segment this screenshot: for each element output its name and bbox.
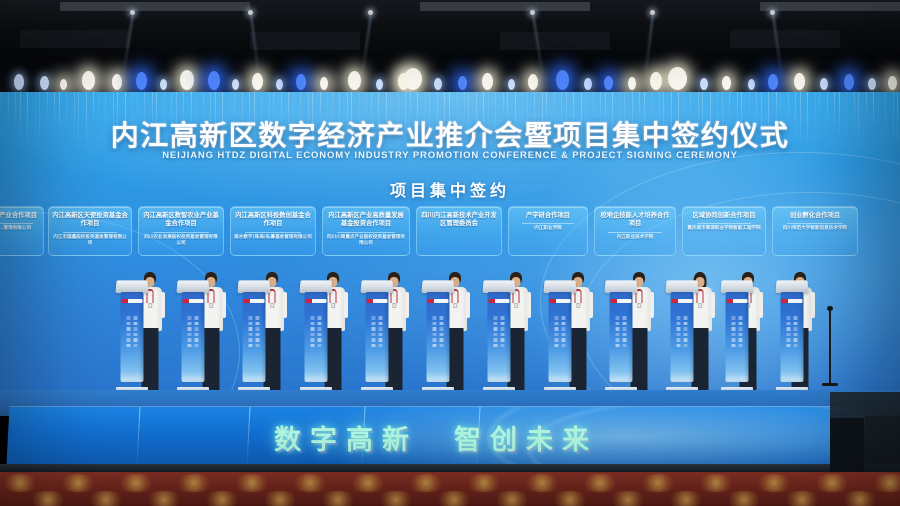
podium-body bbox=[487, 292, 510, 382]
podium-text-glyph bbox=[787, 327, 791, 331]
podium-text-glyph bbox=[794, 327, 798, 331]
signing-podium bbox=[422, 280, 454, 388]
carpet-motif bbox=[174, 474, 214, 492]
placard-title: 内江高新区数智农业产业基金合作项目 bbox=[142, 212, 220, 229]
signing-podium bbox=[483, 280, 515, 388]
podium-text-glyph bbox=[195, 338, 199, 342]
ceiling-panel bbox=[250, 32, 360, 50]
signing-podium bbox=[177, 280, 209, 388]
podium-text-glyph bbox=[127, 333, 131, 337]
podium-text-glyph bbox=[794, 322, 798, 326]
podium-text-glyph bbox=[494, 333, 498, 337]
podium-logo-band bbox=[306, 299, 326, 303]
signatory-arm-right bbox=[161, 292, 165, 318]
podium-text-glyph bbox=[739, 333, 743, 337]
podium-vertical-text bbox=[780, 316, 803, 347]
signatory-badge bbox=[209, 303, 213, 308]
carpet-motif bbox=[318, 491, 358, 506]
stage-lamp bbox=[14, 74, 24, 90]
podium-text-glyph bbox=[311, 316, 315, 320]
podium-vertical-text bbox=[487, 316, 510, 347]
podium-text-glyph bbox=[311, 322, 315, 326]
podium-text-glyph bbox=[794, 333, 798, 337]
stage-lamp bbox=[508, 79, 515, 90]
stage-lamp bbox=[888, 76, 897, 90]
podium-text-glyph bbox=[616, 344, 620, 348]
podium-text-column bbox=[616, 316, 620, 347]
placard-divider bbox=[608, 232, 661, 233]
podium-text-glyph bbox=[616, 316, 620, 320]
stage-lamp bbox=[650, 72, 662, 90]
carpet-motif bbox=[840, 491, 880, 506]
podium-text-glyph bbox=[623, 333, 627, 337]
podium-text-column bbox=[318, 316, 322, 347]
podium-text-glyph bbox=[794, 338, 798, 342]
podium-text-glyph bbox=[311, 333, 315, 337]
podium-vertical-text bbox=[304, 316, 327, 347]
podium-body bbox=[725, 292, 748, 382]
podium-text-glyph bbox=[249, 333, 253, 337]
podium-text-glyph bbox=[494, 327, 498, 331]
stage-lamp-blue bbox=[768, 74, 778, 90]
podium-text-column bbox=[684, 316, 688, 347]
carpet-motif bbox=[812, 474, 852, 492]
podium-text-glyph bbox=[562, 322, 566, 326]
carpet-motif bbox=[492, 491, 532, 506]
placard-subtitle: 南水数字(珠海)私募基金管理有限公司 bbox=[234, 235, 312, 241]
podium-text-glyph bbox=[433, 344, 437, 348]
stage-lamp bbox=[434, 78, 442, 90]
carpet-motif bbox=[782, 491, 822, 506]
carpet-motif bbox=[116, 474, 156, 492]
podium-text-glyph bbox=[739, 316, 743, 320]
stage-scene: 内江高新区数字经济产业推介会暨项目集中签约仪式 NEIJIANG HTDZ DI… bbox=[0, 0, 900, 506]
podium-text-glyph bbox=[318, 333, 322, 337]
carpet-motif bbox=[260, 491, 300, 506]
podium-text-column bbox=[256, 316, 260, 347]
stage-lamp bbox=[252, 73, 263, 90]
signatory-badge bbox=[698, 303, 702, 308]
podium-text-glyph bbox=[732, 338, 736, 342]
project-placard: 内江高新区产业高质量发展基金投资合作项目四川川商重点产业股权投资基金管理有限公司 bbox=[322, 206, 410, 256]
podium-vertical-text bbox=[181, 316, 204, 347]
podium-text-glyph bbox=[134, 327, 138, 331]
podium-text-glyph bbox=[318, 338, 322, 342]
carpet-motif bbox=[28, 491, 68, 506]
podium-text-glyph bbox=[433, 316, 437, 320]
ceiling-panel bbox=[500, 32, 610, 50]
podium-text-glyph bbox=[684, 316, 688, 320]
podium-logo-band bbox=[428, 299, 448, 303]
podium-text-glyph bbox=[501, 316, 505, 320]
project-placard: 产学研合作项目内江职业学院 bbox=[508, 206, 588, 256]
podium-text-glyph bbox=[787, 344, 791, 348]
podium-text-glyph bbox=[372, 338, 376, 342]
carpet-motif bbox=[464, 474, 504, 492]
podium-text-column bbox=[195, 316, 199, 347]
podium-logo-band bbox=[782, 299, 802, 303]
stage-lamp-blue bbox=[844, 74, 854, 90]
podium-text-glyph bbox=[188, 333, 192, 337]
placard-subtitle: 四川农业发展股权投资基金管理有限公司 bbox=[142, 235, 220, 247]
carpet-motif bbox=[144, 491, 184, 506]
placard-subtitle: 重庆城市管理职业学院智能工程学院 bbox=[686, 226, 762, 232]
podium-text-glyph bbox=[134, 338, 138, 342]
podium-text-glyph bbox=[188, 338, 192, 342]
stage-lamp bbox=[722, 76, 731, 90]
mic-pole bbox=[829, 310, 831, 383]
placard-subtitle: 四川师范大学智能信息技术学院 bbox=[776, 226, 854, 232]
ceiling-truss-left bbox=[60, 2, 250, 11]
placard-subtitle: 内江职业学院 bbox=[512, 226, 584, 232]
podium-text-glyph bbox=[256, 333, 260, 337]
podium-text-column bbox=[134, 316, 138, 347]
signatory-badge bbox=[270, 303, 274, 308]
podium-logo-band bbox=[244, 299, 264, 303]
podium-text-glyph bbox=[677, 322, 681, 326]
placard-divider bbox=[63, 232, 118, 233]
stage-lamp-blue bbox=[604, 76, 613, 90]
podium-text-column bbox=[188, 316, 192, 347]
podium-logo-band bbox=[122, 299, 142, 303]
podium-text-glyph bbox=[562, 327, 566, 331]
stage-lamp bbox=[232, 79, 239, 90]
signatory-badge bbox=[148, 303, 152, 308]
placard-divider bbox=[153, 232, 209, 233]
podium-text-glyph bbox=[562, 316, 566, 320]
podium-text-glyph bbox=[440, 322, 444, 326]
podium-text-glyph bbox=[195, 316, 199, 320]
carpet-motif bbox=[638, 474, 678, 492]
ceiling-truss-right bbox=[760, 2, 900, 11]
podium-text-glyph bbox=[433, 338, 437, 342]
podium-text-glyph bbox=[188, 322, 192, 326]
stage-lamp bbox=[528, 74, 538, 90]
podium-text-column bbox=[440, 316, 444, 347]
podium-text-glyph bbox=[127, 327, 131, 331]
signatory-arm-right bbox=[759, 292, 763, 318]
project-placard: 区域协同创新合作项目重庆城市管理职业学院智能工程学院 bbox=[682, 206, 766, 256]
podium-text-glyph bbox=[739, 344, 743, 348]
signing-podium bbox=[361, 280, 393, 388]
podium-text-glyph bbox=[311, 338, 315, 342]
placard-title: 创业孵化合作项目 bbox=[776, 212, 854, 220]
stage-lamp bbox=[376, 79, 383, 90]
placard-divider bbox=[245, 232, 301, 233]
podium-text-glyph bbox=[623, 327, 627, 331]
podium-logo-band bbox=[489, 299, 509, 303]
placard-divider bbox=[337, 232, 395, 233]
podium-text-glyph bbox=[249, 338, 253, 342]
podium-text-glyph bbox=[433, 322, 437, 326]
stage-lamp bbox=[276, 79, 283, 90]
podium-body bbox=[304, 292, 327, 382]
podium-text-column bbox=[433, 316, 437, 347]
podium-text-glyph bbox=[623, 316, 627, 320]
podium-text-column bbox=[379, 316, 383, 347]
placard-divider bbox=[787, 223, 843, 224]
podium-text-glyph bbox=[494, 344, 498, 348]
podium-text-glyph bbox=[732, 327, 736, 331]
podium-text-glyph bbox=[440, 344, 444, 348]
podium-logo-band bbox=[727, 299, 747, 303]
podium-text-glyph bbox=[127, 322, 131, 326]
podium-vertical-text bbox=[725, 316, 748, 347]
placard-title: 四川内江高新技术产业开发区管理委员会 bbox=[420, 212, 498, 229]
podium-text-glyph bbox=[134, 322, 138, 326]
placard-title: …产业合作项目 bbox=[0, 212, 40, 220]
podium-text-glyph bbox=[195, 344, 199, 348]
podium-text-glyph bbox=[311, 327, 315, 331]
stage-right-box bbox=[830, 418, 864, 476]
signatory-arm-right bbox=[283, 292, 287, 318]
signing-podium bbox=[776, 280, 808, 388]
placard-title: 内江高新区产业高质量发展基金投资合作项目 bbox=[326, 212, 406, 229]
podium-text-glyph bbox=[677, 333, 681, 337]
carpet-motif bbox=[434, 491, 474, 506]
signatory-badge bbox=[576, 303, 580, 308]
project-placard-row: …产业合作项目…管理有限公司内江高新区天使投资基金合作项目内江市国鑫股权投资基金… bbox=[0, 206, 900, 258]
podium-text-glyph bbox=[134, 316, 138, 320]
signing-podium bbox=[666, 280, 698, 388]
carpet-motif bbox=[376, 491, 416, 506]
podium-body bbox=[548, 292, 571, 382]
podium-text-glyph bbox=[623, 322, 627, 326]
podium-text-glyph bbox=[188, 327, 192, 331]
placard-title: 区域协同创新合作项目 bbox=[686, 212, 762, 220]
podium-text-glyph bbox=[256, 327, 260, 331]
podium-text-glyph bbox=[188, 344, 192, 348]
stage-lamp-blue bbox=[296, 74, 306, 90]
podium-text-glyph bbox=[684, 322, 688, 326]
stage-lamp-blue bbox=[136, 72, 147, 90]
podium-text-glyph bbox=[249, 322, 253, 326]
podium-text-glyph bbox=[440, 338, 444, 342]
carpet-motif bbox=[666, 491, 706, 506]
podium-text-glyph bbox=[379, 316, 383, 320]
podium-text-glyph bbox=[127, 316, 131, 320]
podium-text-column bbox=[562, 316, 566, 347]
podium-body bbox=[670, 292, 693, 382]
podium-text-glyph bbox=[739, 322, 743, 326]
podium-text-glyph bbox=[555, 344, 559, 348]
podium-vertical-text bbox=[242, 316, 265, 347]
podium-text-glyph bbox=[732, 344, 736, 348]
stage-lamp bbox=[482, 73, 493, 90]
carpet-motif bbox=[696, 474, 736, 492]
podium-text-column bbox=[311, 316, 315, 347]
podium-text-glyph bbox=[440, 327, 444, 331]
placard-subtitle: …管理有限公司 bbox=[0, 226, 40, 232]
podium-vertical-text bbox=[548, 316, 571, 347]
podium-text-glyph bbox=[195, 333, 199, 337]
podium-text-glyph bbox=[256, 344, 260, 348]
podium-logo-band bbox=[550, 299, 570, 303]
podium-text-glyph bbox=[555, 338, 559, 342]
stage-lamp-blue bbox=[458, 76, 467, 90]
podium-text-glyph bbox=[616, 338, 620, 342]
podium-text-glyph bbox=[372, 316, 376, 320]
podium-text-glyph bbox=[684, 344, 688, 348]
carpet-motif bbox=[550, 491, 590, 506]
stage-lamp-bright bbox=[404, 68, 422, 90]
stage-lamp bbox=[628, 77, 636, 90]
podium-text-glyph bbox=[256, 338, 260, 342]
microphone-stand bbox=[820, 304, 840, 386]
podium-vertical-text bbox=[670, 316, 693, 347]
podium-body bbox=[242, 292, 265, 382]
podium-text-glyph bbox=[787, 338, 791, 342]
podium-text-glyph bbox=[188, 316, 192, 320]
podium-text-glyph bbox=[195, 327, 199, 331]
podium-text-glyph bbox=[249, 316, 253, 320]
podium-text-glyph bbox=[616, 327, 620, 331]
podium-text-glyph bbox=[372, 344, 376, 348]
stage-lamp-bright bbox=[668, 67, 687, 90]
podium-text-glyph bbox=[623, 344, 627, 348]
carpet-motif bbox=[202, 491, 242, 506]
carpet-motif bbox=[348, 474, 388, 492]
podium-text-column bbox=[794, 316, 798, 347]
podium-logo-band bbox=[183, 299, 203, 303]
carpet-motif bbox=[406, 474, 446, 492]
stage-lamp bbox=[82, 71, 95, 90]
podium-text-glyph bbox=[732, 333, 736, 337]
project-placard: 内江高新区科投数创基金合作项目南水数字(珠海)私募基金管理有限公司 bbox=[230, 206, 316, 256]
podium-text-column bbox=[732, 316, 736, 347]
podium-text-glyph bbox=[372, 333, 376, 337]
podium-text-glyph bbox=[684, 338, 688, 342]
page-subtitle: 项目集中签约 bbox=[0, 177, 900, 201]
stage-lamp bbox=[868, 78, 876, 90]
signatory-arm-right bbox=[589, 292, 593, 318]
podium-text-glyph bbox=[555, 316, 559, 320]
stage-lamp bbox=[320, 77, 328, 90]
podium-text-glyph bbox=[379, 338, 383, 342]
podium-text-glyph bbox=[318, 322, 322, 326]
podium-text-column bbox=[494, 316, 498, 347]
project-placard: …产业合作项目…管理有限公司 bbox=[0, 206, 44, 256]
podium-text-column bbox=[249, 316, 253, 347]
podium-text-glyph bbox=[379, 327, 383, 331]
podium-text-glyph bbox=[372, 327, 376, 331]
page-title-english: NEIJIANG HTDZ DIGITAL ECONOMY INDUSTRY P… bbox=[0, 150, 900, 161]
podium-body bbox=[365, 292, 388, 382]
podium-text-glyph bbox=[256, 316, 260, 320]
podium-text-glyph bbox=[127, 344, 131, 348]
placard-divider bbox=[522, 223, 574, 224]
podium-text-glyph bbox=[555, 327, 559, 331]
carpet-motif bbox=[522, 474, 562, 492]
carpet-motif bbox=[870, 474, 900, 492]
signatory-arm-right bbox=[344, 292, 348, 318]
led-floor-strip: 数字高新 智创未来 bbox=[6, 406, 865, 466]
mic-foot bbox=[822, 383, 838, 386]
placard-title: 内江高新区科投数创基金合作项目 bbox=[234, 212, 312, 229]
stage-lamp bbox=[748, 79, 755, 90]
podium-text-glyph bbox=[440, 333, 444, 337]
signatory-arm-right bbox=[650, 292, 654, 318]
carpet bbox=[0, 472, 900, 506]
podium-logo-band bbox=[611, 299, 631, 303]
podium-logo-band bbox=[367, 299, 387, 303]
carpet-motif bbox=[232, 474, 272, 492]
project-placard: 创业孵化合作项目四川师范大学智能信息技术学院 bbox=[772, 206, 858, 256]
podium-body bbox=[181, 292, 204, 382]
podium-text-column bbox=[501, 316, 505, 347]
stage-lamp bbox=[60, 79, 67, 90]
carpet-motif bbox=[58, 474, 98, 492]
placard-subtitle: 内江市国鑫股权投资基金管理有限公司 bbox=[52, 235, 128, 247]
stage-lamp bbox=[584, 78, 592, 90]
carpet-motif bbox=[754, 474, 794, 492]
signing-podium bbox=[116, 280, 148, 388]
signatory-arm-right bbox=[405, 292, 409, 318]
podium-text-column bbox=[677, 316, 681, 347]
project-placard: 四川内江高新技术产业开发区管理委员会 bbox=[416, 206, 502, 256]
podium-text-glyph bbox=[372, 322, 376, 326]
podium-text-glyph bbox=[249, 344, 253, 348]
podium-text-glyph bbox=[555, 333, 559, 337]
project-placard: 内江高新区天使投资基金合作项目内江市国鑫股权投资基金管理有限公司 bbox=[48, 206, 132, 256]
stage-lamp bbox=[180, 70, 194, 90]
stage-lamp bbox=[40, 76, 49, 90]
podium-vertical-text bbox=[426, 316, 449, 347]
podium-body bbox=[120, 292, 143, 382]
podium-text-glyph bbox=[501, 338, 505, 342]
signatory-badge bbox=[637, 303, 641, 308]
podium-text-glyph bbox=[440, 316, 444, 320]
stage-lamp bbox=[112, 74, 122, 90]
signing-podium bbox=[238, 280, 270, 388]
podium-text-glyph bbox=[555, 322, 559, 326]
carpet-motif bbox=[86, 491, 126, 506]
podium-text-glyph bbox=[562, 344, 566, 348]
podium-vertical-text bbox=[609, 316, 632, 347]
placard-title: 产学研合作项目 bbox=[512, 212, 584, 220]
podium-text-glyph bbox=[732, 316, 736, 320]
placard-subtitle: 内江职业技术学院 bbox=[598, 235, 672, 241]
podium-text-glyph bbox=[501, 344, 505, 348]
carpet-motif bbox=[0, 474, 40, 492]
stage-lamp-blue bbox=[208, 71, 220, 90]
podium-text-glyph bbox=[677, 338, 681, 342]
podium-text-glyph bbox=[494, 322, 498, 326]
podium-body bbox=[426, 292, 449, 382]
podium-text-glyph bbox=[379, 322, 383, 326]
podium-text-column bbox=[787, 316, 791, 347]
carpet-motif bbox=[580, 474, 620, 492]
podium-text-glyph bbox=[562, 333, 566, 337]
mic-head bbox=[827, 306, 833, 311]
stage-light-row bbox=[0, 56, 900, 92]
placard-divider bbox=[697, 223, 752, 224]
stage-lamp bbox=[160, 79, 167, 90]
podium-text-glyph bbox=[684, 327, 688, 331]
podium-text-glyph bbox=[494, 338, 498, 342]
podium-text-glyph bbox=[739, 338, 743, 342]
podium-text-column bbox=[127, 316, 131, 347]
podium-logo-band bbox=[672, 299, 692, 303]
podium-text-glyph bbox=[501, 333, 505, 337]
podium-text-glyph bbox=[318, 327, 322, 331]
signatory-row bbox=[0, 262, 900, 402]
podium-text-glyph bbox=[195, 322, 199, 326]
podium-text-glyph bbox=[311, 344, 315, 348]
stage-lamp bbox=[700, 78, 708, 90]
signing-podium bbox=[605, 280, 637, 388]
podium-text-glyph bbox=[134, 344, 138, 348]
